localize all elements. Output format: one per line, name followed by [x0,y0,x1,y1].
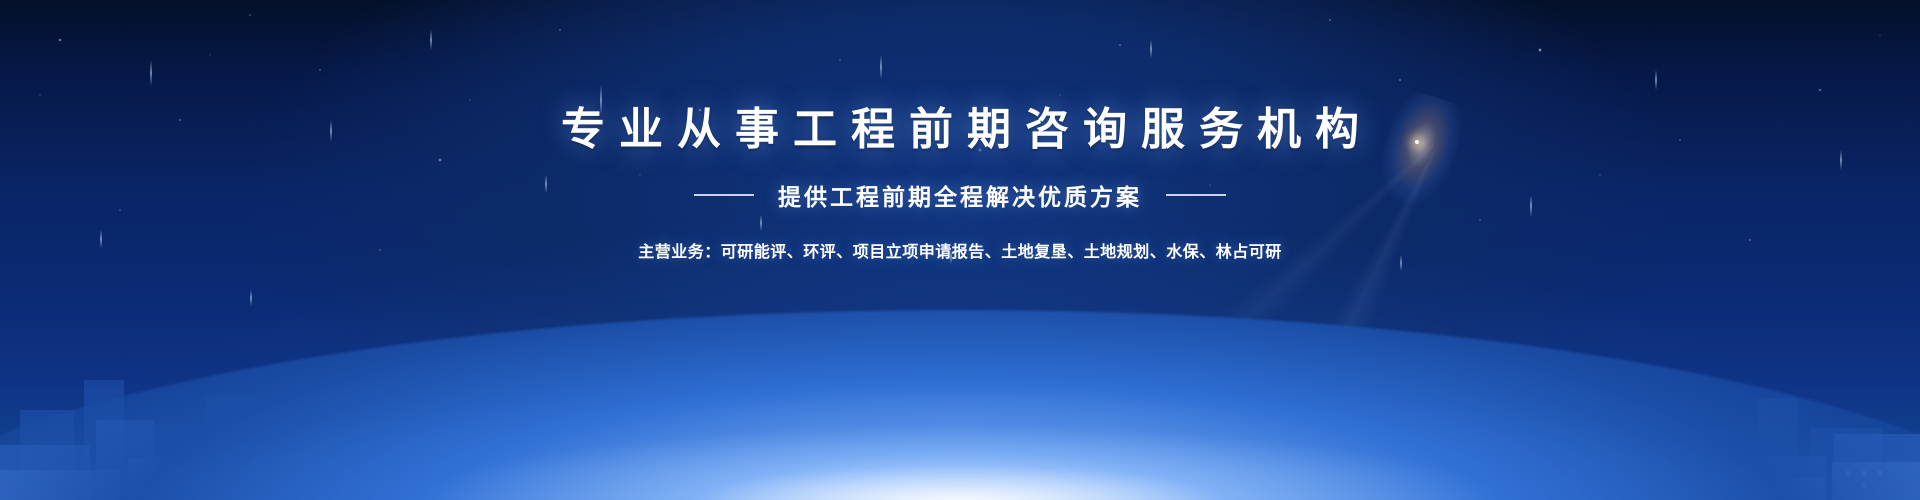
left-rule-decoration [694,194,754,196]
banner-business-scope: 主营业务：可研能评、环评、项目立项申请报告、土地复垦、土地规划、水保、林占可研 [638,238,1282,262]
hero-banner: 专业从事工程前期咨询服务机构 提供工程前期全程解决优质方案 主营业务：可研能评、… [0,0,1920,500]
banner-title: 专业从事工程前期咨询服务机构 [547,108,1373,152]
banner-content: 专业从事工程前期咨询服务机构 提供工程前期全程解决优质方案 主营业务：可研能评、… [0,0,1920,500]
right-rule-decoration [1166,194,1226,196]
banner-subtitle-row: 提供工程前期全程解决优质方案 [694,178,1226,212]
banner-subtitle: 提供工程前期全程解决优质方案 [778,178,1142,212]
